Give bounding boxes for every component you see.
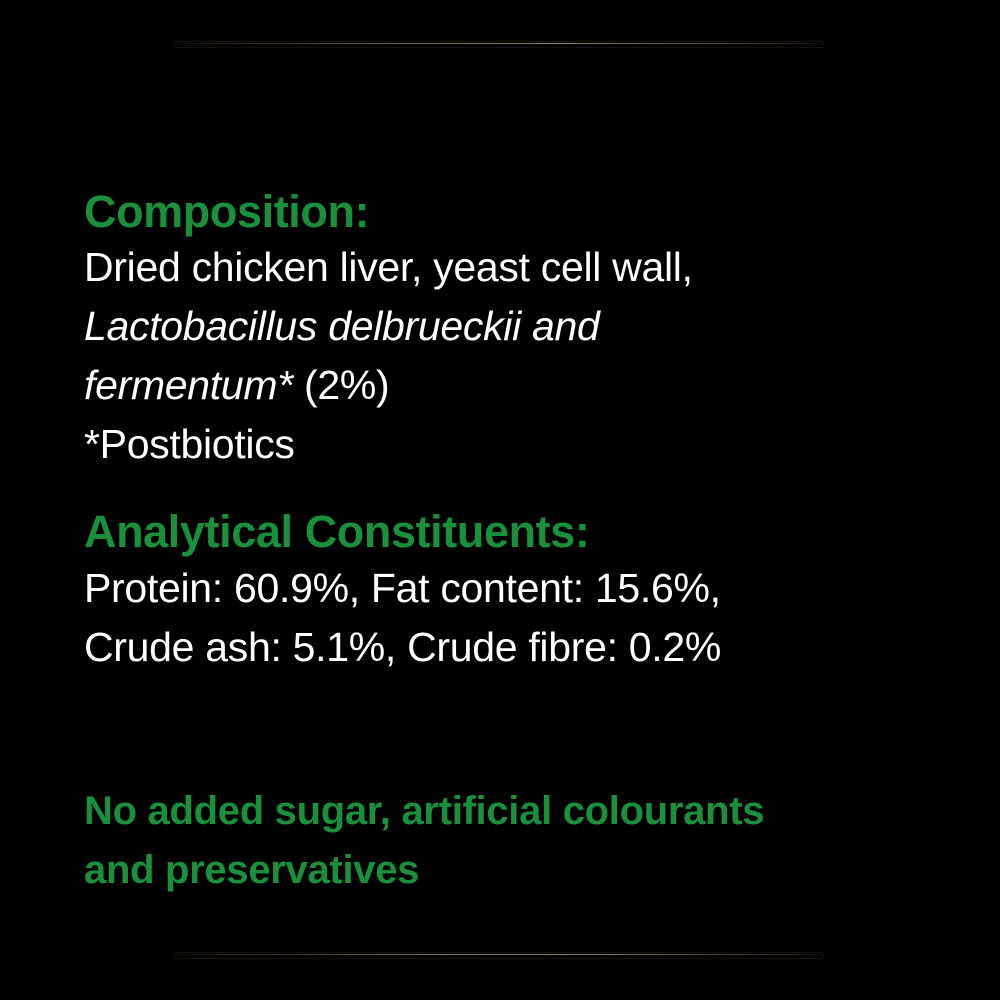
- composition-line-2: Lactobacillus delbrueckii and: [84, 297, 964, 356]
- composition-heading: Composition:: [84, 186, 964, 238]
- composition-line-1: Dried chicken liver, yeast cell wall,: [84, 238, 964, 297]
- analytical-constituents-heading: Analytical Constituents:: [84, 506, 964, 558]
- label-text-content: Composition: Dried chicken liver, yeast …: [84, 186, 964, 677]
- analytical-line-2: Crude ash: 5.1%, Crude fibre: 0.2%: [84, 618, 964, 677]
- composition-line-3-species: fermentum*: [84, 362, 293, 408]
- composition-footnote: *Postbiotics: [84, 415, 964, 474]
- claim-line-2: and preservatives: [84, 841, 964, 900]
- claim-line-1: No added sugar, artificial colourants: [84, 782, 964, 841]
- product-label-panel: Composition: Dried chicken liver, yeast …: [0, 0, 1000, 1000]
- composition-line-3: fermentum* (2%): [84, 356, 964, 415]
- analytical-constituents-section: Analytical Constituents: Protein: 60.9%,…: [84, 506, 964, 676]
- product-claim-section: No added sugar, artificial colourants an…: [84, 782, 964, 900]
- composition-line-3-percentage: (2%): [293, 362, 389, 408]
- gold-divider-bottom-icon: [175, 953, 823, 958]
- gold-divider-top-icon: [175, 42, 823, 47]
- analytical-line-1: Protein: 60.9%, Fat content: 15.6%,: [84, 559, 964, 618]
- composition-section: Composition: Dried chicken liver, yeast …: [84, 186, 964, 474]
